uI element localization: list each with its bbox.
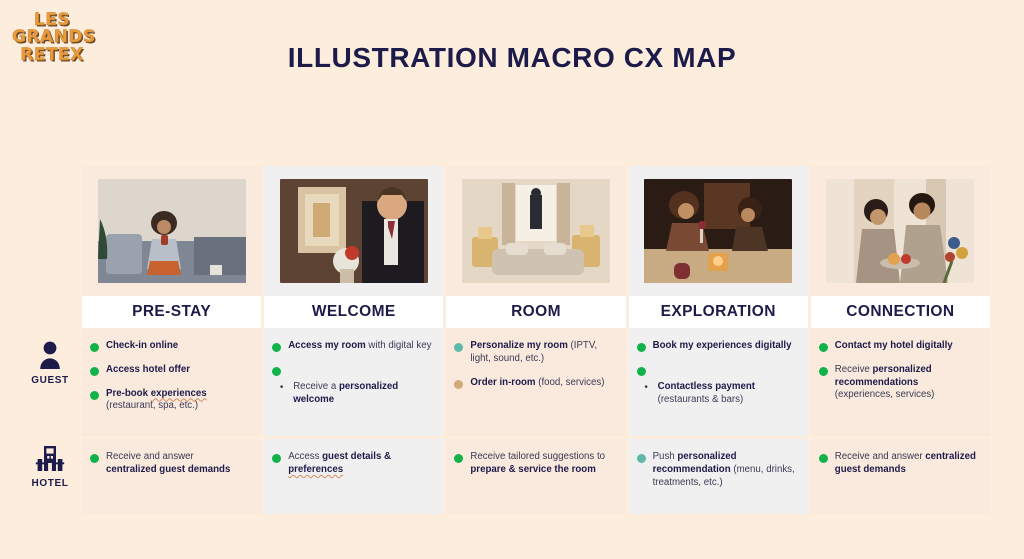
rail-hotel: HOTEL <box>18 443 82 489</box>
stage-header-label: PRE-STAY <box>132 303 211 321</box>
guest-item: Access my room with digital key <box>272 340 433 353</box>
guest-row-cell: Check-in online Access hotel offer Pre-b… <box>82 328 261 436</box>
status-dot-green-icon <box>90 367 99 376</box>
rail-guest: GUEST <box>18 340 82 386</box>
guest-subitem: • Contactless payment(restaurants & bars… <box>642 381 798 407</box>
status-dot-green-icon <box>637 367 646 376</box>
rail-hotel-label: HOTEL <box>32 478 69 489</box>
hotel-item: Access guest details & preferences <box>272 451 433 477</box>
stage-header-label: CONNECTION <box>846 303 954 321</box>
hotel-text: Receive and answercentralized guest dema… <box>106 451 230 477</box>
hotel-room-interior-photo <box>462 179 610 283</box>
stage-photo-cell <box>629 166 808 296</box>
status-dot-teal-icon <box>637 454 646 463</box>
stage-header-cell: PRE-STAY <box>82 296 261 328</box>
guest-row-cell: Access my room with digital key • Receiv… <box>264 328 443 436</box>
stage-header-cell: EXPLORATION <box>629 296 808 328</box>
status-dot-green-icon <box>90 343 99 352</box>
guest-text: Contact my hotel digitally <box>835 340 953 353</box>
stage-header-cell: ROOM <box>446 296 625 328</box>
guest-text: Check-in online <box>106 340 178 353</box>
stage-photo-cell <box>446 166 625 296</box>
status-dot-green-icon <box>819 367 828 376</box>
cx-map-poster: LES GRANDS RETEX ILLUSTRATION MACRO CX M… <box>0 0 1024 559</box>
couple-dining-restaurant-photo <box>644 179 792 283</box>
cx-map-grid: PRE-STAY Check-in online Access hotel of… <box>82 166 990 514</box>
bullet-icon: • <box>642 381 651 394</box>
hotel-text: Access guest details & preferences <box>288 451 433 477</box>
stage-column-room: ROOM Personalize my room (IPTV, light, s… <box>446 166 625 514</box>
page-title: ILLUSTRATION MACRO CX MAP <box>0 42 1024 74</box>
hotel-concierge-greeting-photo <box>280 179 428 283</box>
guest-item: Pre-book experiences(restaurant, spa, et… <box>90 388 251 414</box>
hotel-text: Receive tailored suggestions to prepare … <box>470 451 615 477</box>
guest-row-cell: Book my experiences digitally • Contactl… <box>629 328 808 436</box>
guest-text: Pre-book experiences(restaurant, spa, et… <box>106 388 207 414</box>
status-dot-green-icon <box>272 343 281 352</box>
guest-row-cell: Contact my hotel digitally Receive perso… <box>811 328 990 436</box>
status-dot-green-icon <box>272 367 281 376</box>
hotel-item: Push personalized recommendation (menu, … <box>637 451 798 489</box>
hotel-item: Receive and answer centralized guest dem… <box>819 451 980 477</box>
stage-header-cell: WELCOME <box>264 296 443 328</box>
status-dot-green-icon <box>272 454 281 463</box>
hotel-row-cell: Access guest details & preferences <box>264 439 443 514</box>
guest-text: Access hotel offer <box>106 364 190 377</box>
stage-column-welcome: WELCOME Access my room with digital key … <box>264 166 443 514</box>
status-dot-green-icon <box>819 454 828 463</box>
guest-item: Personalize my room (IPTV, light, sound,… <box>454 340 615 366</box>
status-dot-green-icon <box>637 343 646 352</box>
building-icon <box>33 443 67 473</box>
guest-text: Book my experiences digitally <box>653 340 792 353</box>
guest-item <box>272 364 433 376</box>
guest-text: Receive a personalized welcome <box>293 381 433 407</box>
rail-guest-label: GUEST <box>31 375 68 386</box>
stage-column-exploration: EXPLORATION Book my experiences digitall… <box>629 166 808 514</box>
guest-text: Order in-room (food, services) <box>470 377 604 390</box>
stage-column-connection: CONNECTION Contact my hotel digitally Re… <box>811 166 990 514</box>
bullet-icon: • <box>277 381 286 394</box>
guest-row-cell: Personalize my room (IPTV, light, sound,… <box>446 328 625 436</box>
hotel-text: Receive and answer centralized guest dem… <box>835 451 980 477</box>
stage-column-pre-stay: PRE-STAY Check-in online Access hotel of… <box>82 166 261 514</box>
hotel-row-cell: Receive and answercentralized guest dema… <box>82 439 261 514</box>
hotel-row-cell: Push personalized recommendation (menu, … <box>629 439 808 514</box>
stage-header-label: ROOM <box>511 303 561 321</box>
person-icon <box>37 340 63 370</box>
guest-text: Access my room with digital key <box>288 340 431 353</box>
guest-item: Contact my hotel digitally <box>819 340 980 353</box>
guest-subitem: • Receive a personalized welcome <box>277 381 433 407</box>
woman-on-sofa-with-phone-photo <box>98 179 246 283</box>
stage-header-cell: CONNECTION <box>811 296 990 328</box>
guest-item: Order in-room (food, services) <box>454 377 615 390</box>
hotel-item: Receive tailored suggestions to prepare … <box>454 451 615 477</box>
stage-photo-cell <box>811 166 990 296</box>
guest-item: Access hotel offer <box>90 364 251 377</box>
status-dot-green-icon <box>454 454 463 463</box>
status-dot-tan-icon <box>454 380 463 389</box>
guest-text: Receive personalized recommendations(exp… <box>835 364 980 402</box>
stage-header-label: EXPLORATION <box>661 303 776 321</box>
status-dot-green-icon <box>90 391 99 400</box>
status-dot-green-icon <box>819 343 828 352</box>
guest-item <box>637 364 798 376</box>
hotel-row-cell: Receive tailored suggestions to prepare … <box>446 439 625 514</box>
guest-text: Personalize my room (IPTV, light, sound,… <box>470 340 615 366</box>
stage-photo-cell <box>82 166 261 296</box>
stage-photo-cell <box>264 166 443 296</box>
stage-header-label: WELCOME <box>312 303 396 321</box>
hotel-item: Receive and answercentralized guest dema… <box>90 451 251 477</box>
guest-text: Contactless payment(restaurants & bars) <box>658 381 755 407</box>
guest-item: Check-in online <box>90 340 251 353</box>
guest-item: Receive personalized recommendations(exp… <box>819 364 980 402</box>
hotel-text: Push personalized recommendation (menu, … <box>653 451 798 489</box>
status-dot-teal-icon <box>454 343 463 352</box>
guest-item: Book my experiences digitally <box>637 340 798 353</box>
status-dot-green-icon <box>90 454 99 463</box>
staff-with-flowers-and-fruit-photo <box>826 179 974 283</box>
hotel-row-cell: Receive and answer centralized guest dem… <box>811 439 990 514</box>
